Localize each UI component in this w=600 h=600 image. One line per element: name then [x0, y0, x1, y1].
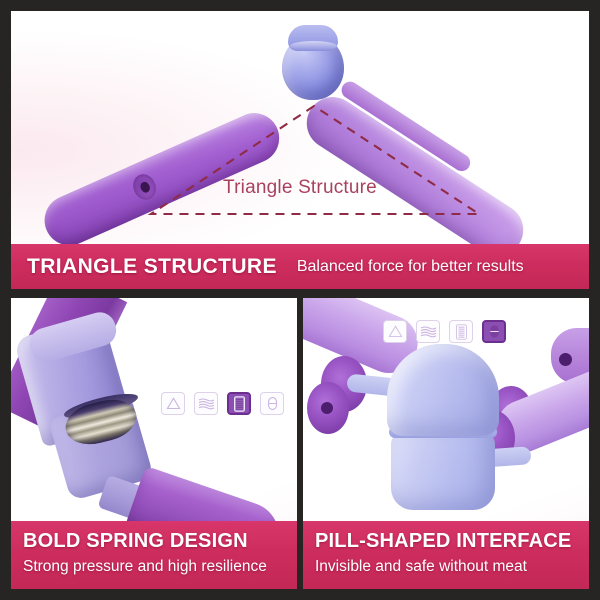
banner-subtitle-pill: Invisible and safe without meat — [315, 555, 589, 579]
banner-pill-shaped-interface: PILL-SHAPED INTERFACE Invisible and safe… — [303, 521, 589, 589]
panel-bold-spring-design: BOLD SPRING DESIGN Strong pressure and h… — [11, 298, 297, 589]
panel-pill-shaped-interface: PILL-SHAPED INTERFACE Invisible and safe… — [303, 298, 589, 589]
banner-subtitle-triangle: Balanced force for better results — [297, 258, 524, 276]
feature-badge-row-spring — [161, 392, 284, 415]
badge-spring-icon[interactable] — [449, 320, 473, 343]
pill-foam-hole-right — [559, 353, 572, 366]
feature-badge-row-pill — [383, 320, 506, 343]
triangle-structure-label: Triangle Structure — [11, 177, 589, 199]
pill-icon — [488, 324, 501, 339]
banner-triangle-structure: TRIANGLE STRUCTURE Balanced force for be… — [11, 244, 589, 289]
coil-lines-icon — [198, 397, 215, 411]
pill-icon — [266, 396, 279, 411]
pill-foam-hole-left — [321, 402, 333, 414]
infographic-frame: Triangle Structure TRIANGLE STRUCTURE Ba… — [0, 0, 600, 600]
spring-icon — [455, 324, 468, 340]
badge-triangle-icon[interactable] — [161, 392, 185, 415]
banner-title-spring: BOLD SPRING DESIGN — [23, 527, 297, 555]
badge-coil-lines-icon[interactable] — [194, 392, 218, 415]
triangle-icon — [388, 325, 403, 338]
coil-lines-icon — [420, 325, 437, 339]
banner-bold-spring-design: BOLD SPRING DESIGN Strong pressure and h… — [11, 521, 297, 589]
banner-subtitle-spring: Strong pressure and high resilience — [23, 555, 297, 579]
spring-icon — [233, 396, 246, 412]
badge-pill-icon[interactable] — [260, 392, 284, 415]
banner-title-triangle: TRIANGLE STRUCTURE — [27, 255, 277, 279]
product-hinge-seam — [290, 41, 337, 51]
triangle-icon — [166, 397, 181, 410]
badge-coil-lines-icon[interactable] — [416, 320, 440, 343]
pill-hinge-top — [387, 344, 499, 436]
badge-pill-icon[interactable] — [482, 320, 506, 343]
panel-divider — [297, 290, 303, 595]
badge-spring-icon[interactable] — [227, 392, 251, 415]
pill-hinge-bottom — [391, 434, 495, 510]
badge-triangle-icon[interactable] — [383, 320, 407, 343]
banner-title-pill: PILL-SHAPED INTERFACE — [315, 527, 589, 555]
